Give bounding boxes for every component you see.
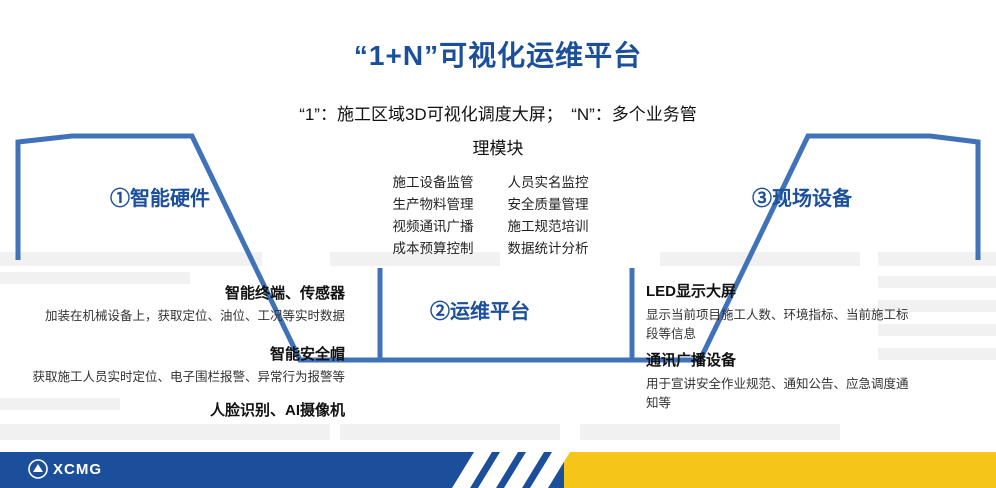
placeholder-bar — [580, 424, 840, 440]
placeholder-bar — [0, 252, 262, 266]
footer-brand-text: XCMG — [53, 461, 102, 478]
pillar-label-platform: ②运维平台 — [430, 295, 530, 324]
module-list: 施工设备监管 人员实名监控 生产物料管理 安全质量管理 视频通讯广播 施工规范培… — [378, 173, 608, 258]
footer-accent-yellow — [564, 452, 996, 488]
right-detail-block-2: 通讯广播设备 用于宣讲安全作业规范、通知公告、应急调度通知等 — [646, 350, 916, 413]
footer-logo: XCMG — [28, 459, 102, 479]
left-detail-block-2: 智能安全帽 获取施工人员实时定位、电子围栏报警、异常行为报警等 — [10, 344, 345, 387]
module-item: 人员实名监控 — [488, 173, 608, 192]
right-heading: 通讯广播设备 — [646, 350, 916, 372]
module-item: 成本预算控制 — [378, 239, 488, 258]
placeholder-bar — [878, 252, 996, 266]
placeholder-bar — [340, 424, 560, 440]
placeholder-bar — [0, 424, 330, 440]
left-heading: 智能安全帽 — [10, 344, 345, 366]
module-item: 施工设备监管 — [378, 173, 488, 192]
left-detail-block-1: 智能终端、传感器 加装在机械设备上，获取定位、油位、工况等实时数据 — [10, 283, 345, 326]
module-item: 视频通讯广播 — [378, 217, 488, 236]
slide-canvas: “1+N”可视化运维平台 “1”：施工区域3D可视化调度大屏； “N”：多个业务… — [0, 0, 996, 488]
right-detail-block-1: LED显示大屏 显示当前项目施工人数、环境指标、当前施工标段等信息 — [646, 281, 916, 344]
placeholder-bar — [660, 252, 860, 266]
right-body: 用于宣讲安全作业规范、通知公告、应急调度通知等 — [646, 375, 916, 413]
left-detail-block-3: 人脸识别、AI摄像机 — [10, 400, 345, 422]
right-heading: LED显示大屏 — [646, 281, 916, 303]
module-item: 生产物料管理 — [378, 195, 488, 214]
pillar-label-onsite: ③现场设备 — [752, 182, 852, 211]
slide-title: “1+N”可视化运维平台 — [0, 34, 996, 74]
stripe-icon — [452, 452, 570, 488]
subtitle-line-1: “1”：施工区域3D可视化调度大屏； “N”：多个业务管 — [0, 100, 996, 125]
left-heading: 智能终端、传感器 — [10, 283, 345, 305]
xcmg-mark-icon — [28, 459, 48, 479]
footer-stripes — [452, 452, 570, 488]
module-item: 施工规范培训 — [488, 217, 608, 236]
module-item: 数据统计分析 — [488, 239, 608, 258]
module-item: 安全质量管理 — [488, 195, 608, 214]
left-body: 加装在机械设备上，获取定位、油位、工况等实时数据 — [10, 307, 345, 326]
subtitle-line-2: 理模块 — [0, 134, 996, 159]
pillar-label-hardware: ①智能硬件 — [110, 182, 210, 211]
left-body: 获取施工人员实时定位、电子围栏报警、异常行为报警等 — [10, 368, 345, 387]
right-body: 显示当前项目施工人数、环境指标、当前施工标段等信息 — [646, 306, 916, 344]
left-heading: 人脸识别、AI摄像机 — [10, 400, 345, 422]
